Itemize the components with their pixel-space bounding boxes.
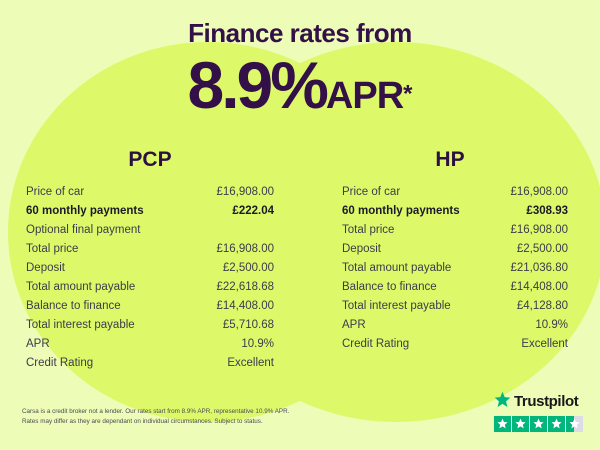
- row-value: £16,908.00: [216, 186, 274, 198]
- trustpilot-wordmark: Trustpilot: [514, 393, 578, 410]
- row-value: £14,408.00: [216, 300, 274, 312]
- row-label: Balance to finance: [26, 300, 121, 312]
- table-row: Total amount payable £21,036.80: [342, 262, 568, 281]
- table-rows-pcp: Price of car £16,908.00 60 monthly payme…: [0, 186, 300, 376]
- row-label: Credit Rating: [342, 338, 409, 350]
- row-label: Price of car: [26, 186, 84, 198]
- table-row: Credit Rating Excellent: [26, 357, 274, 376]
- row-label: 60 monthly payments: [26, 205, 144, 217]
- table-row: Balance to finance £14,408.00: [26, 300, 274, 319]
- row-label: APR: [342, 319, 366, 331]
- page-title: Finance rates from: [0, 18, 600, 49]
- row-label: Price of car: [342, 186, 400, 198]
- rating-star-icon: [530, 416, 547, 433]
- table-row: Total interest payable £5,710.68: [26, 319, 274, 338]
- finance-comparison: PCP Price of car £16,908.00 60 monthly p…: [0, 148, 600, 376]
- rating-star-half-icon: [566, 416, 583, 433]
- row-label: Total interest payable: [26, 319, 135, 331]
- row-label: Total price: [342, 224, 394, 236]
- row-label: Balance to finance: [342, 281, 437, 293]
- row-label: APR: [26, 338, 50, 350]
- row-value: 10.9%: [241, 338, 274, 350]
- row-value: £4,128.80: [517, 300, 568, 312]
- row-value: Excellent: [227, 357, 274, 369]
- row-value: Excellent: [521, 338, 568, 350]
- table-rows-hp: Price of car £16,908.00 60 monthly payme…: [300, 186, 600, 357]
- table-row: Balance to finance £14,408.00: [342, 281, 568, 300]
- table-row: 60 monthly payments £308.93: [342, 205, 568, 224]
- trustpilot-logo: Trustpilot: [494, 391, 586, 413]
- trustpilot-stars: [494, 416, 586, 433]
- row-value: £22,618.68: [216, 281, 274, 293]
- rate-asterisk: *: [403, 81, 412, 108]
- table-row: Credit Rating Excellent: [342, 338, 568, 357]
- table-row: Price of car £16,908.00: [342, 186, 568, 205]
- rate-suffix: APR: [326, 75, 403, 117]
- row-label: Total interest payable: [342, 300, 451, 312]
- row-value: £16,908.00: [510, 224, 568, 236]
- trustpilot-rating[interactable]: Trustpilot: [494, 391, 586, 433]
- row-label: Deposit: [342, 243, 381, 255]
- row-label: Total price: [26, 243, 78, 255]
- row-value: £16,908.00: [216, 243, 274, 255]
- table-row: Total price £16,908.00: [342, 224, 568, 243]
- disclaimer-line-1: Carsa is a credit broker not a lender. O…: [22, 407, 342, 418]
- table-row: Price of car £16,908.00: [26, 186, 274, 205]
- row-value: £14,408.00: [510, 281, 568, 293]
- row-label: Total amount payable: [342, 262, 451, 274]
- table-row: APR 10.9%: [26, 338, 274, 357]
- table-title-hp: HP: [300, 148, 600, 172]
- finance-table-hp: HP Price of car £16,908.00 60 monthly pa…: [300, 148, 600, 376]
- table-row: Total interest payable £4,128.80: [342, 300, 568, 319]
- row-label: Deposit: [26, 262, 65, 274]
- row-value: £308.93: [526, 205, 568, 217]
- row-value: £222.04: [232, 205, 274, 217]
- row-value: £16,908.00: [510, 186, 568, 198]
- row-label: Credit Rating: [26, 357, 93, 369]
- row-value: £5,710.68: [223, 319, 274, 331]
- row-label: Total amount payable: [26, 281, 135, 293]
- table-row: Total amount payable £22,618.68: [26, 281, 274, 300]
- table-row: Deposit £2,500.00: [26, 262, 274, 281]
- headline-rate: 8.9%APR*: [0, 52, 600, 118]
- row-value: 10.9%: [535, 319, 568, 331]
- rate-value: 8.9%: [187, 48, 325, 122]
- finance-table-pcp: PCP Price of car £16,908.00 60 monthly p…: [0, 148, 300, 376]
- rating-star-icon: [494, 416, 511, 433]
- rating-star-icon: [548, 416, 565, 433]
- promo-card: Finance rates from 8.9%APR* PCP Price of…: [0, 0, 600, 450]
- table-row: Optional final payment: [26, 224, 274, 243]
- legal-disclaimer: Carsa is a credit broker not a lender. O…: [22, 407, 342, 428]
- table-row: 60 monthly payments £222.04: [26, 205, 274, 224]
- rating-star-icon: [512, 416, 529, 433]
- row-label: Optional final payment: [26, 224, 140, 236]
- table-row: Deposit £2,500.00: [342, 243, 568, 262]
- row-value: £2,500.00: [517, 243, 568, 255]
- table-row: Total price £16,908.00: [26, 243, 274, 262]
- table-title-pcp: PCP: [0, 148, 300, 172]
- table-row: APR 10.9%: [342, 319, 568, 338]
- row-label: 60 monthly payments: [342, 205, 460, 217]
- trustpilot-star-icon: [494, 391, 511, 413]
- row-value: £21,036.80: [510, 262, 568, 274]
- row-value: £2,500.00: [223, 262, 274, 274]
- disclaimer-line-2: Rates may differ as they are dependant o…: [22, 417, 342, 428]
